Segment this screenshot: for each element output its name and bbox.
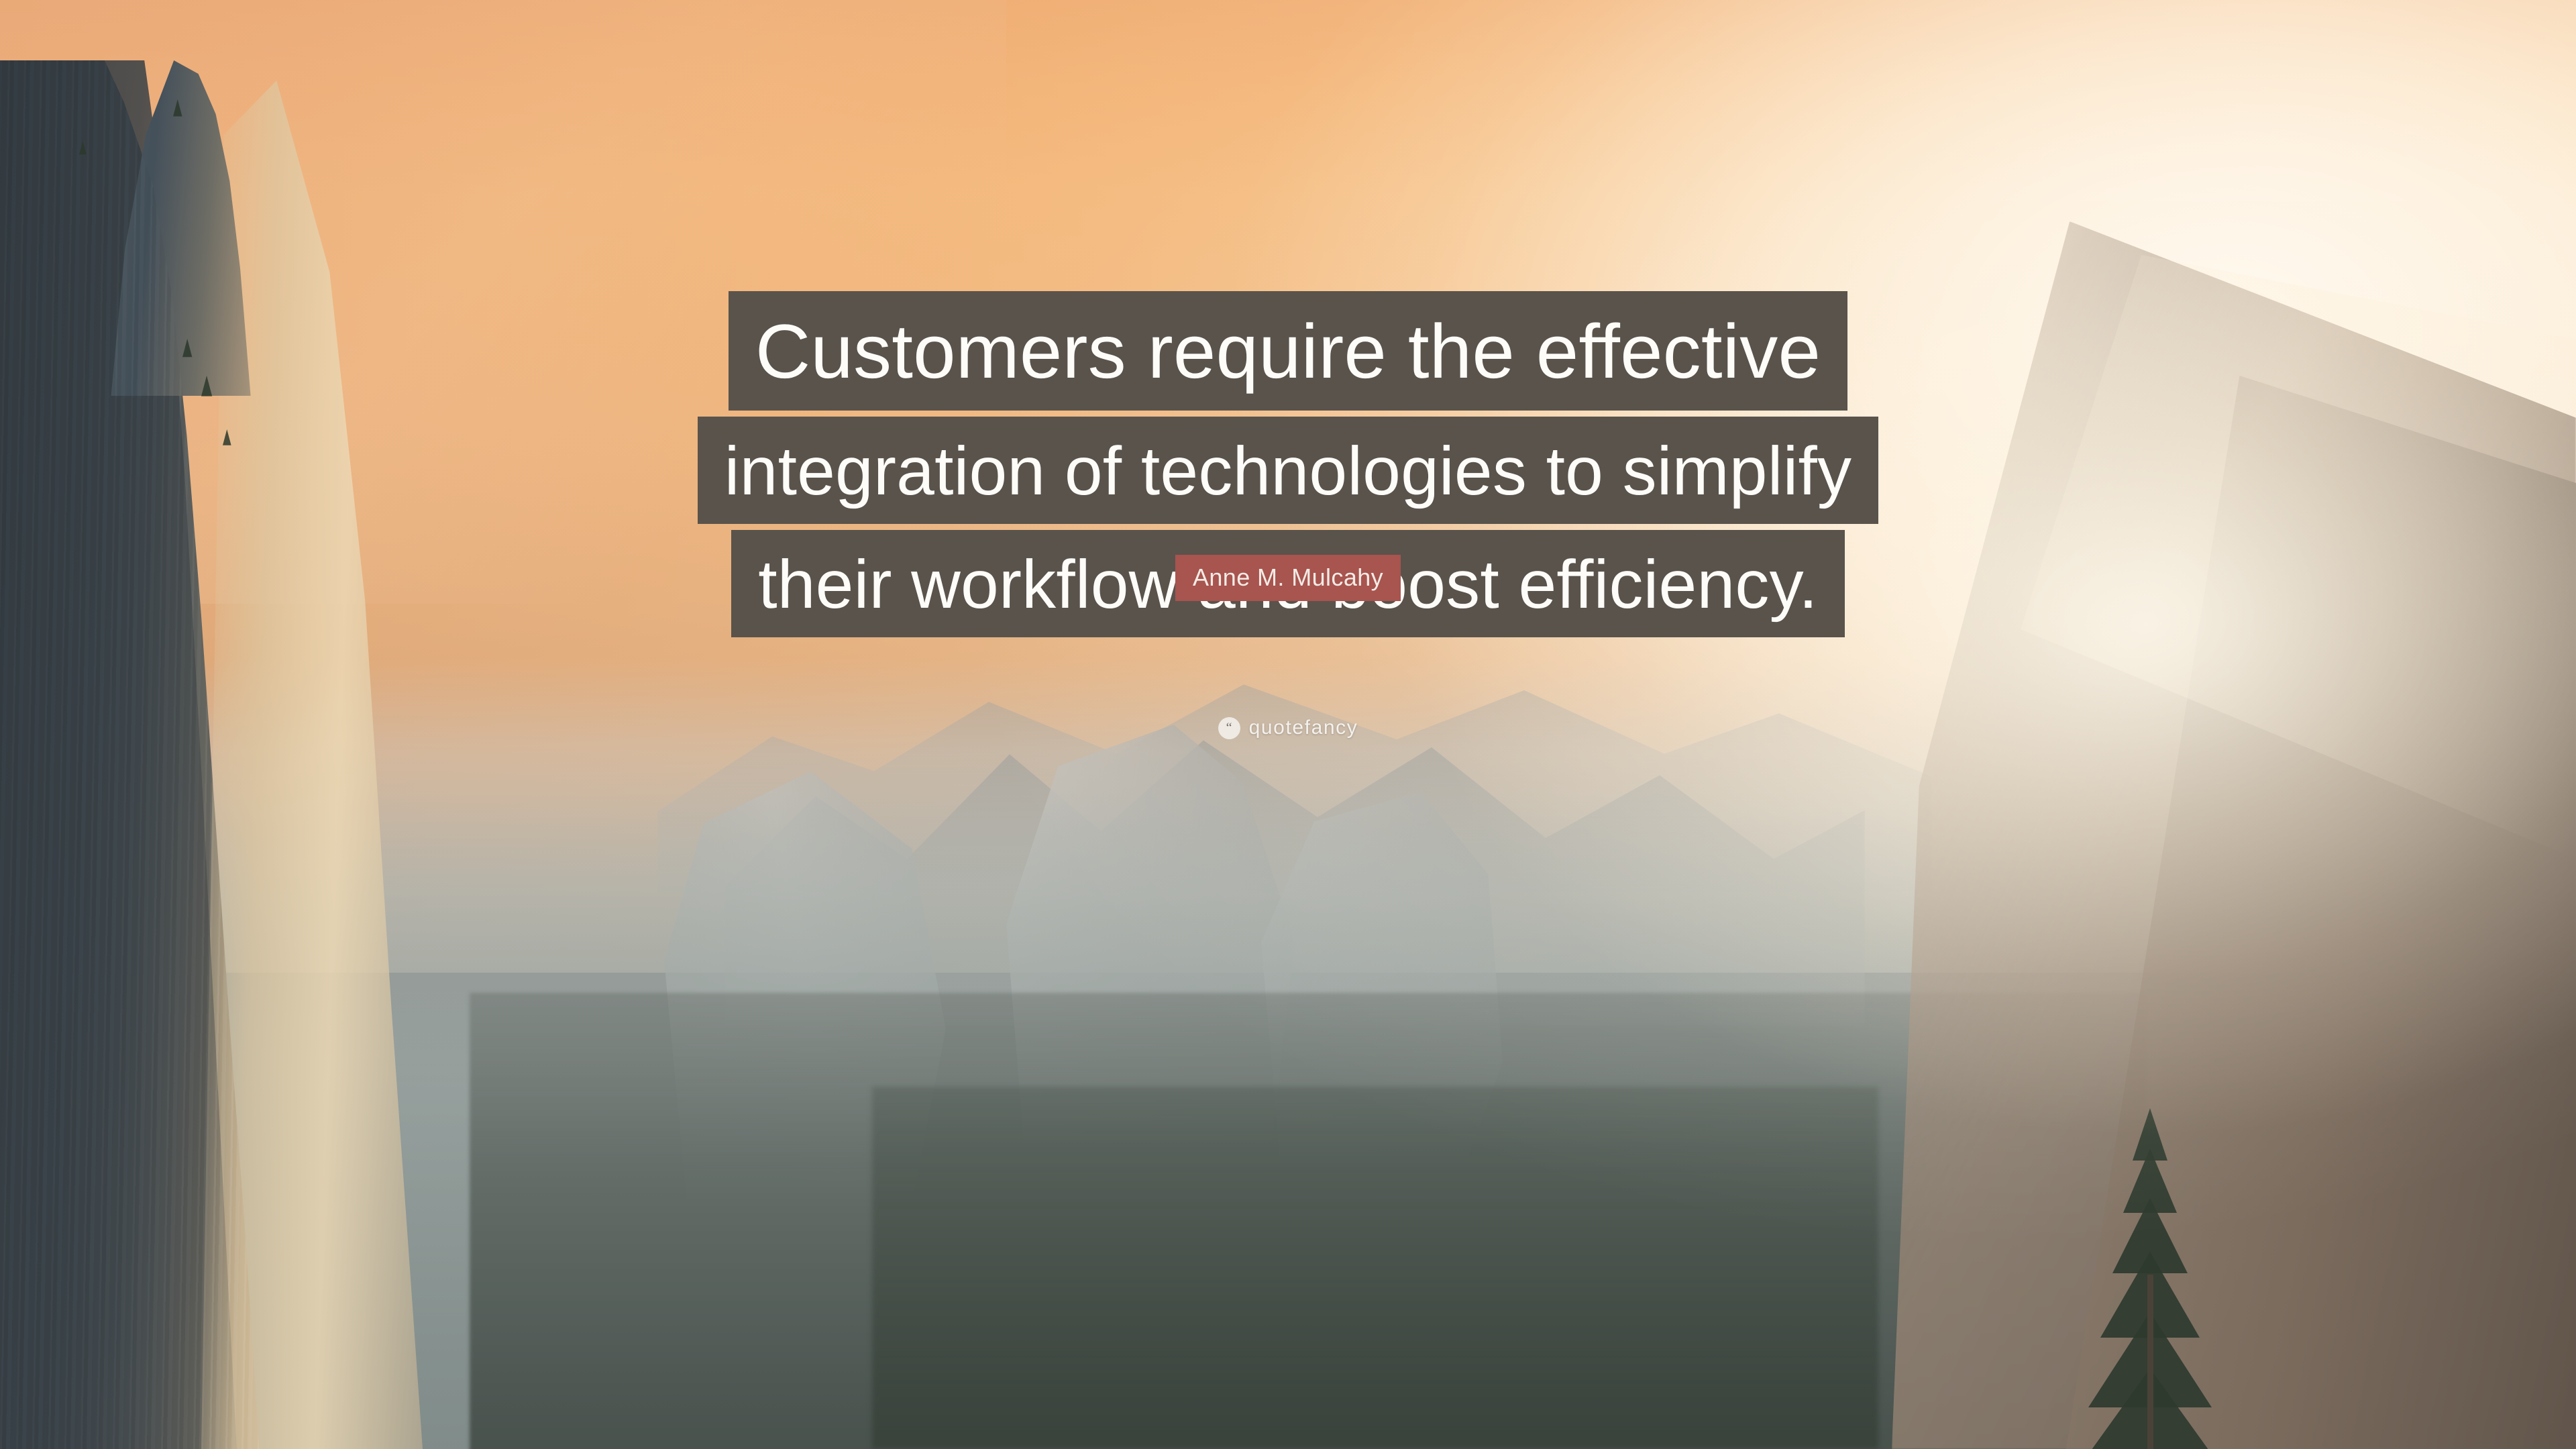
valley-forest-deep bbox=[872, 1087, 1878, 1449]
background-photo bbox=[0, 0, 2576, 1449]
foreground-fir-tree bbox=[2073, 1033, 2227, 1449]
quote-line-1: Customers require the effective bbox=[729, 291, 1847, 411]
quote-wallpaper: Customers require the effective integrat… bbox=[0, 0, 2576, 1449]
author-attribution: Anne M. Mulcahy bbox=[0, 555, 2576, 601]
fir-trunk bbox=[2147, 1275, 2153, 1449]
author-name-badge: Anne M. Mulcahy bbox=[1175, 555, 1401, 601]
quote-line-2: integration of technologies to simplify bbox=[698, 417, 1878, 524]
